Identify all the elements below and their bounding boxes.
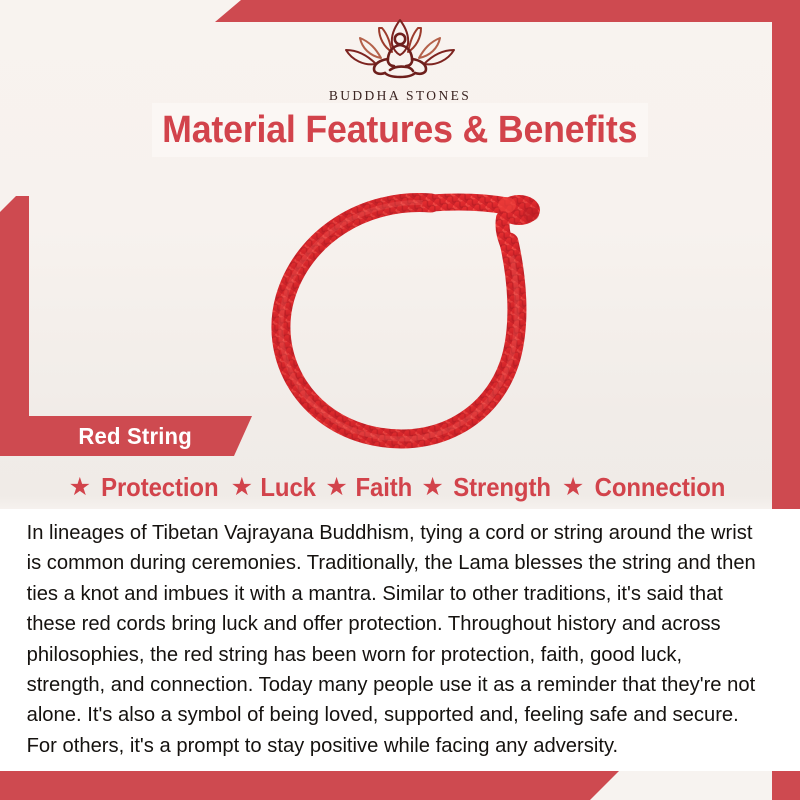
benefit-item-connection: ★ Connection	[562, 472, 731, 503]
star-icon: ★	[231, 475, 253, 500]
benefit-item-faith: ★ Faith	[325, 472, 414, 503]
description-panel: In lineages of Tibetan Vajrayana Buddhis…	[0, 509, 800, 771]
page-title: Material Features & Benefits	[162, 109, 637, 152]
benefit-label: Luck	[260, 472, 315, 503]
benefit-item-strength: ★ Strength	[421, 472, 555, 503]
lotus-meditation-icon	[324, 14, 476, 86]
star-icon: ★	[325, 475, 347, 500]
star-icon: ★	[69, 475, 91, 500]
product-image-red-string-bracelet	[245, 158, 585, 468]
infographic-poster: BUDDHA STONES Material Features & Benefi…	[0, 0, 800, 800]
benefit-label: Faith	[355, 472, 412, 503]
brand-lockup: BUDDHA STONES	[0, 14, 800, 104]
star-icon: ★	[421, 475, 443, 500]
benefit-label: Strength	[453, 472, 551, 503]
headline-banner: Material Features & Benefits	[152, 103, 648, 157]
benefit-item-protection: ★ Protection	[69, 472, 224, 503]
benefit-label: Protection	[101, 472, 218, 503]
brand-name: BUDDHA STONES	[0, 88, 800, 104]
section-title: Red String	[78, 423, 192, 450]
section-ribbon-red-string: Red String	[0, 416, 252, 456]
description-text: In lineages of Tibetan Vajrayana Buddhis…	[0, 509, 788, 761]
decor-band-bottom	[0, 770, 620, 800]
star-icon: ★	[562, 475, 584, 500]
decor-band-left	[0, 196, 29, 446]
benefit-item-luck: ★ Luck	[231, 472, 319, 503]
benefit-label: Connection	[595, 472, 726, 503]
benefits-list: ★ Protection ★ Luck ★ Faith ★ Strength ★…	[0, 466, 800, 508]
